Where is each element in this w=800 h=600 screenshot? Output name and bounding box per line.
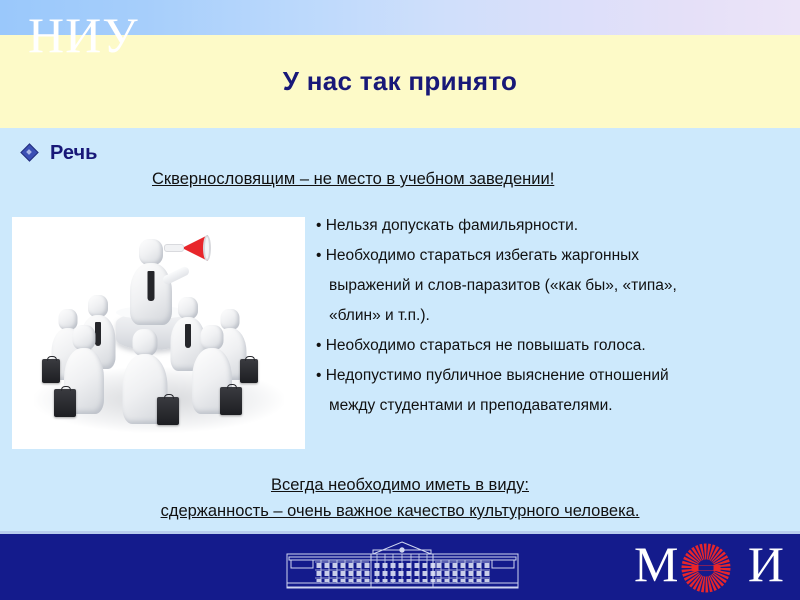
list-item: «блин» и т.п.). [316,301,786,331]
slide-body: Речь Сквернословящим – не место в учебно… [0,128,800,531]
diamond-bullet-icon [22,145,39,162]
section-subtitle: Сквернословящим – не место в учебном зав… [152,170,554,189]
conclusion-line: Всегда необходимо иметь в виду: [0,472,800,498]
figure-crowd [184,325,240,417]
photo-figures-with-megaphone [12,217,305,449]
slide-canvas: У нас так принято Речь Сквернословящим –… [0,0,800,600]
conclusion-block: Всегда необходимо иметь в виду: сдержанн… [0,472,800,524]
list-item: • Нельзя допускать фамильярности. [316,211,786,241]
list-item: • Недопустимо публичное выяснение отноше… [316,361,786,391]
list-item: между студентами и преподавателями. [316,391,786,421]
list-item: выражений и слов-паразитов («как бы», «т… [316,271,786,301]
mei-logo: М И [634,537,784,595]
page-title: У нас так принято [283,66,518,97]
footer-institution-abbr: НИУ [28,8,139,62]
figure-crowd [56,325,112,417]
mei-logo-letter-m: М [634,538,678,590]
conclusion-line: сдержанность – очень важное качество кул… [0,498,800,524]
list-item: • Необходимо стараться избегать жаргонны… [316,241,786,271]
section-heading-row: Речь [22,142,97,165]
figure-crowd [114,329,176,427]
university-building-icon [285,540,520,592]
megaphone-icon [162,235,208,261]
mei-logo-letter-i: И [748,538,784,590]
rules-bullet-list: • Нельзя допускать фамильярности. • Необ… [316,211,786,421]
section-heading-label: Речь [50,142,97,165]
list-item: • Необходимо стараться не повышать голос… [316,331,786,361]
red-turbine-wheel-icon [681,543,731,593]
